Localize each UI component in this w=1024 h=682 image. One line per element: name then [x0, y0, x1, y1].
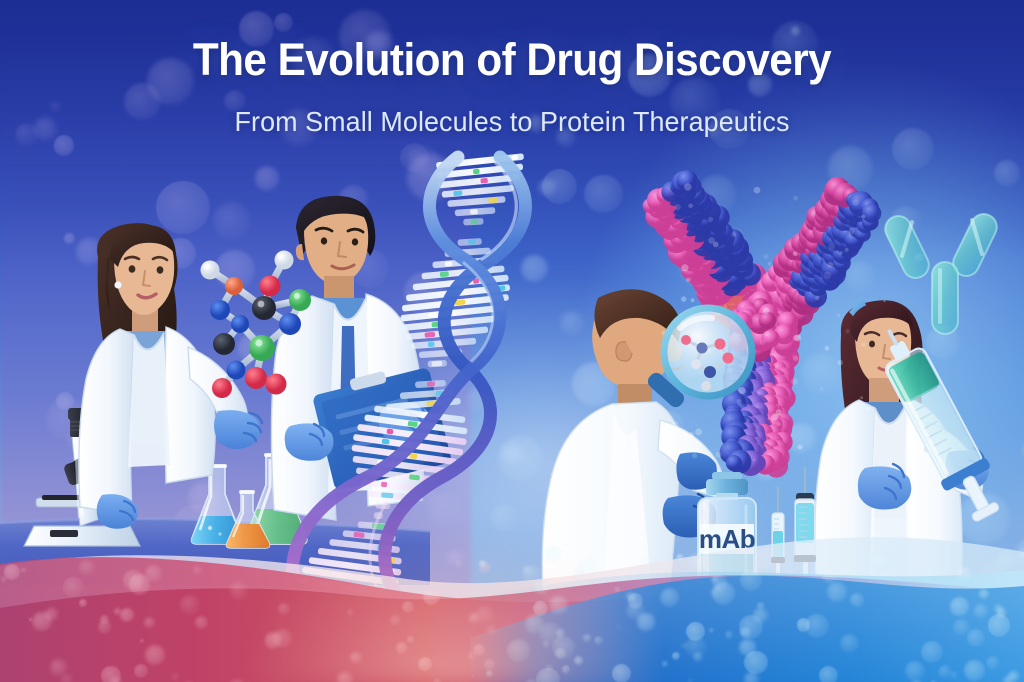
antibody-highlight	[753, 458, 756, 461]
antibody-highlight	[686, 278, 691, 283]
antibody-highlight	[828, 262, 834, 268]
syringe-small	[766, 487, 790, 591]
dna-base-marker	[429, 312, 438, 318]
bokeh-dot	[994, 160, 1020, 186]
antibody-highlight	[692, 453, 697, 458]
antibody-highlight	[865, 406, 870, 411]
bokeh-dot	[993, 634, 1003, 644]
poster-subtitle: From Small Molecules to Protein Therapeu…	[20, 106, 1003, 138]
antibody-highlight	[839, 252, 842, 255]
antibody-highlight	[837, 314, 840, 317]
dna-base-marker	[432, 361, 443, 367]
antibody-highlight	[768, 262, 772, 266]
bokeh-dot	[1014, 537, 1024, 577]
dna-base-marker	[440, 271, 449, 277]
title-block: The Evolution of Drug Discovery From Sma…	[0, 36, 1024, 138]
antibody-highlight	[827, 447, 833, 453]
bokeh-dot	[858, 592, 904, 638]
antibody-highlight	[828, 243, 835, 250]
bokeh-dot	[54, 135, 75, 156]
dna-base-marker	[473, 169, 480, 175]
antibody-highlight	[811, 212, 816, 217]
antibody-residue	[862, 204, 881, 223]
dna-base-marker	[468, 239, 476, 245]
dna-base-marker	[511, 155, 518, 161]
antibody-highlight	[848, 228, 855, 235]
antibody-highlight	[791, 378, 798, 385]
antibody-highlight	[793, 196, 798, 201]
antibody-highlight	[675, 204, 681, 210]
antibody-highlight	[654, 430, 657, 433]
antibody-highlight	[824, 272, 831, 279]
dna-base-marker	[453, 190, 462, 196]
magnifying-glass	[640, 300, 770, 430]
bokeh-dot	[584, 175, 622, 213]
antibody-highlight	[798, 445, 803, 450]
antibody-highlight	[681, 264, 688, 271]
antibody-highlight	[763, 254, 768, 259]
poster-canvas: The Evolution of Drug Discovery From Sma…	[0, 0, 1024, 682]
antibody-residue	[726, 455, 742, 471]
antibody-highlight	[689, 432, 694, 437]
antibody-highlight	[852, 199, 859, 206]
antibody-highlight	[708, 217, 713, 222]
dna-base-marker	[488, 197, 498, 203]
antibody-highlight	[754, 187, 761, 194]
dna-base-marker	[427, 381, 435, 387]
antibody-highlight	[845, 248, 849, 252]
antibody-highlight	[793, 252, 797, 256]
antibody-highlight	[793, 356, 798, 361]
poster-title: The Evolution of Drug Discovery	[31, 36, 994, 85]
bokeh-dot	[178, 621, 199, 642]
bokeh-dot	[167, 625, 205, 663]
antibody-highlight	[731, 232, 736, 237]
antibody-highlight	[688, 204, 693, 209]
antibody-highlight	[793, 335, 799, 341]
bokeh-dot	[63, 629, 91, 657]
mab-vial: mAb	[688, 472, 766, 590]
antibody-highlight	[815, 296, 819, 300]
antibody-highlight	[716, 452, 722, 458]
antibody-highlight	[708, 237, 715, 244]
dna-base-marker	[445, 261, 453, 267]
bokeh-dot	[41, 601, 77, 637]
antibody-highlight	[860, 396, 863, 399]
antibody-highlight	[825, 346, 830, 351]
antibody-highlight	[837, 360, 843, 366]
dna-base-marker	[470, 219, 477, 224]
dna-base-marker	[424, 332, 435, 338]
dna-base-marker	[381, 492, 393, 498]
syringe-large-standing	[790, 467, 820, 591]
dna-base-marker	[428, 342, 435, 348]
bokeh-dot	[911, 626, 939, 654]
dna-base-marker	[381, 482, 387, 488]
dna-base-marker	[480, 178, 488, 184]
bokeh-dot	[274, 13, 293, 32]
antibody-highlight	[771, 413, 778, 420]
antibody-highlight	[684, 183, 691, 190]
bottom-warm-glow	[246, 532, 656, 682]
antibody-highlight	[820, 387, 824, 391]
dna-base-marker	[470, 209, 478, 215]
syringe-large-handheld	[893, 340, 1003, 530]
mab-vial-label: mAb	[688, 524, 766, 555]
antibody-highlight	[862, 215, 866, 219]
antibody-highlight	[777, 422, 781, 426]
antibody-highlight	[861, 343, 866, 348]
antibody-highlight	[845, 329, 849, 333]
